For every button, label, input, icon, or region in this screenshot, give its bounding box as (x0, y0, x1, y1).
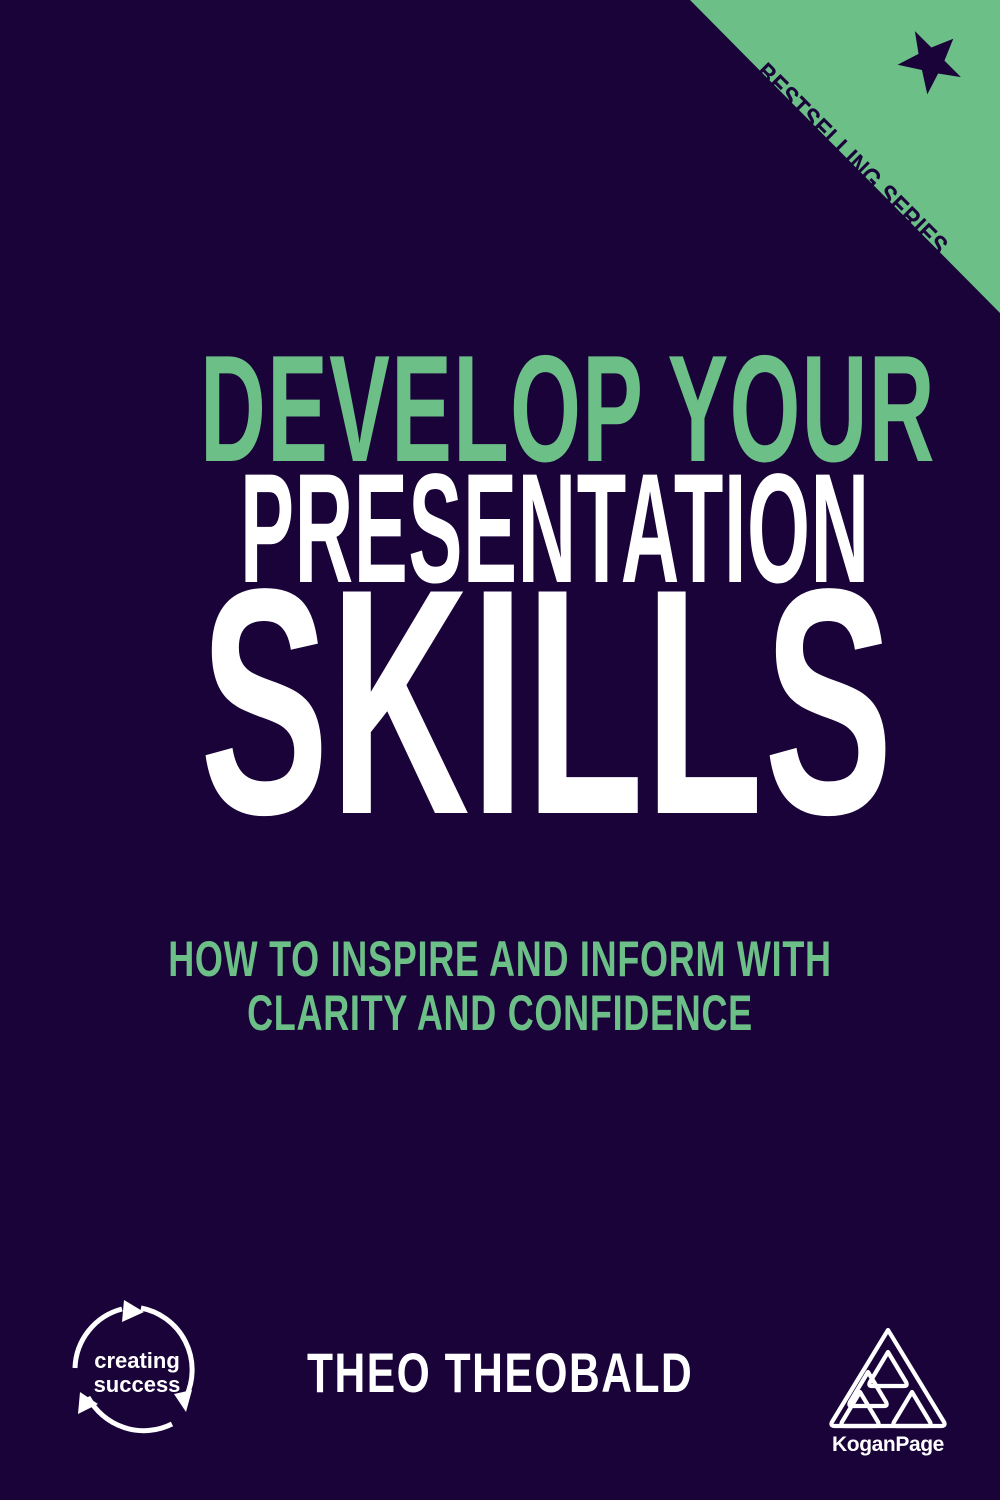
book-cover: BESTSELLING SERIES OVER 1 MILLION COPIES… (0, 0, 1000, 1500)
arrowhead-top (122, 1300, 144, 1322)
subtitle-line-2: CLARITY AND CONFIDENCE (140, 986, 860, 1040)
banner-triangle (690, 0, 1000, 313)
banner-line-2: OVER 1 MILLION COPIES SOLD (690, 46, 965, 321)
star-icon (889, 16, 976, 103)
creating-success-badge: creating success (62, 1296, 212, 1446)
badge-word-success: success (94, 1372, 181, 1397)
title-block: DEVELOP YOUR PRESENTATION SKILLS (0, 340, 1000, 852)
publisher-name: KoganPage (832, 1433, 944, 1456)
badge-word-creating: creating (94, 1348, 180, 1373)
title-line-skills: SKILLS (200, 555, 800, 851)
subtitle-line-1: HOW TO INSPIRE AND INFORM WITH (140, 932, 860, 986)
author-name: THEO THEOBALD (307, 1340, 693, 1405)
kogan-page-triangle-logo (831, 1330, 944, 1426)
publisher-logo: KoganPage (818, 1318, 958, 1458)
banner-line-1: BESTSELLING SERIES (749, 57, 954, 262)
subtitle-block: HOW TO INSPIRE AND INFORM WITH CLARITY A… (0, 932, 1000, 1040)
